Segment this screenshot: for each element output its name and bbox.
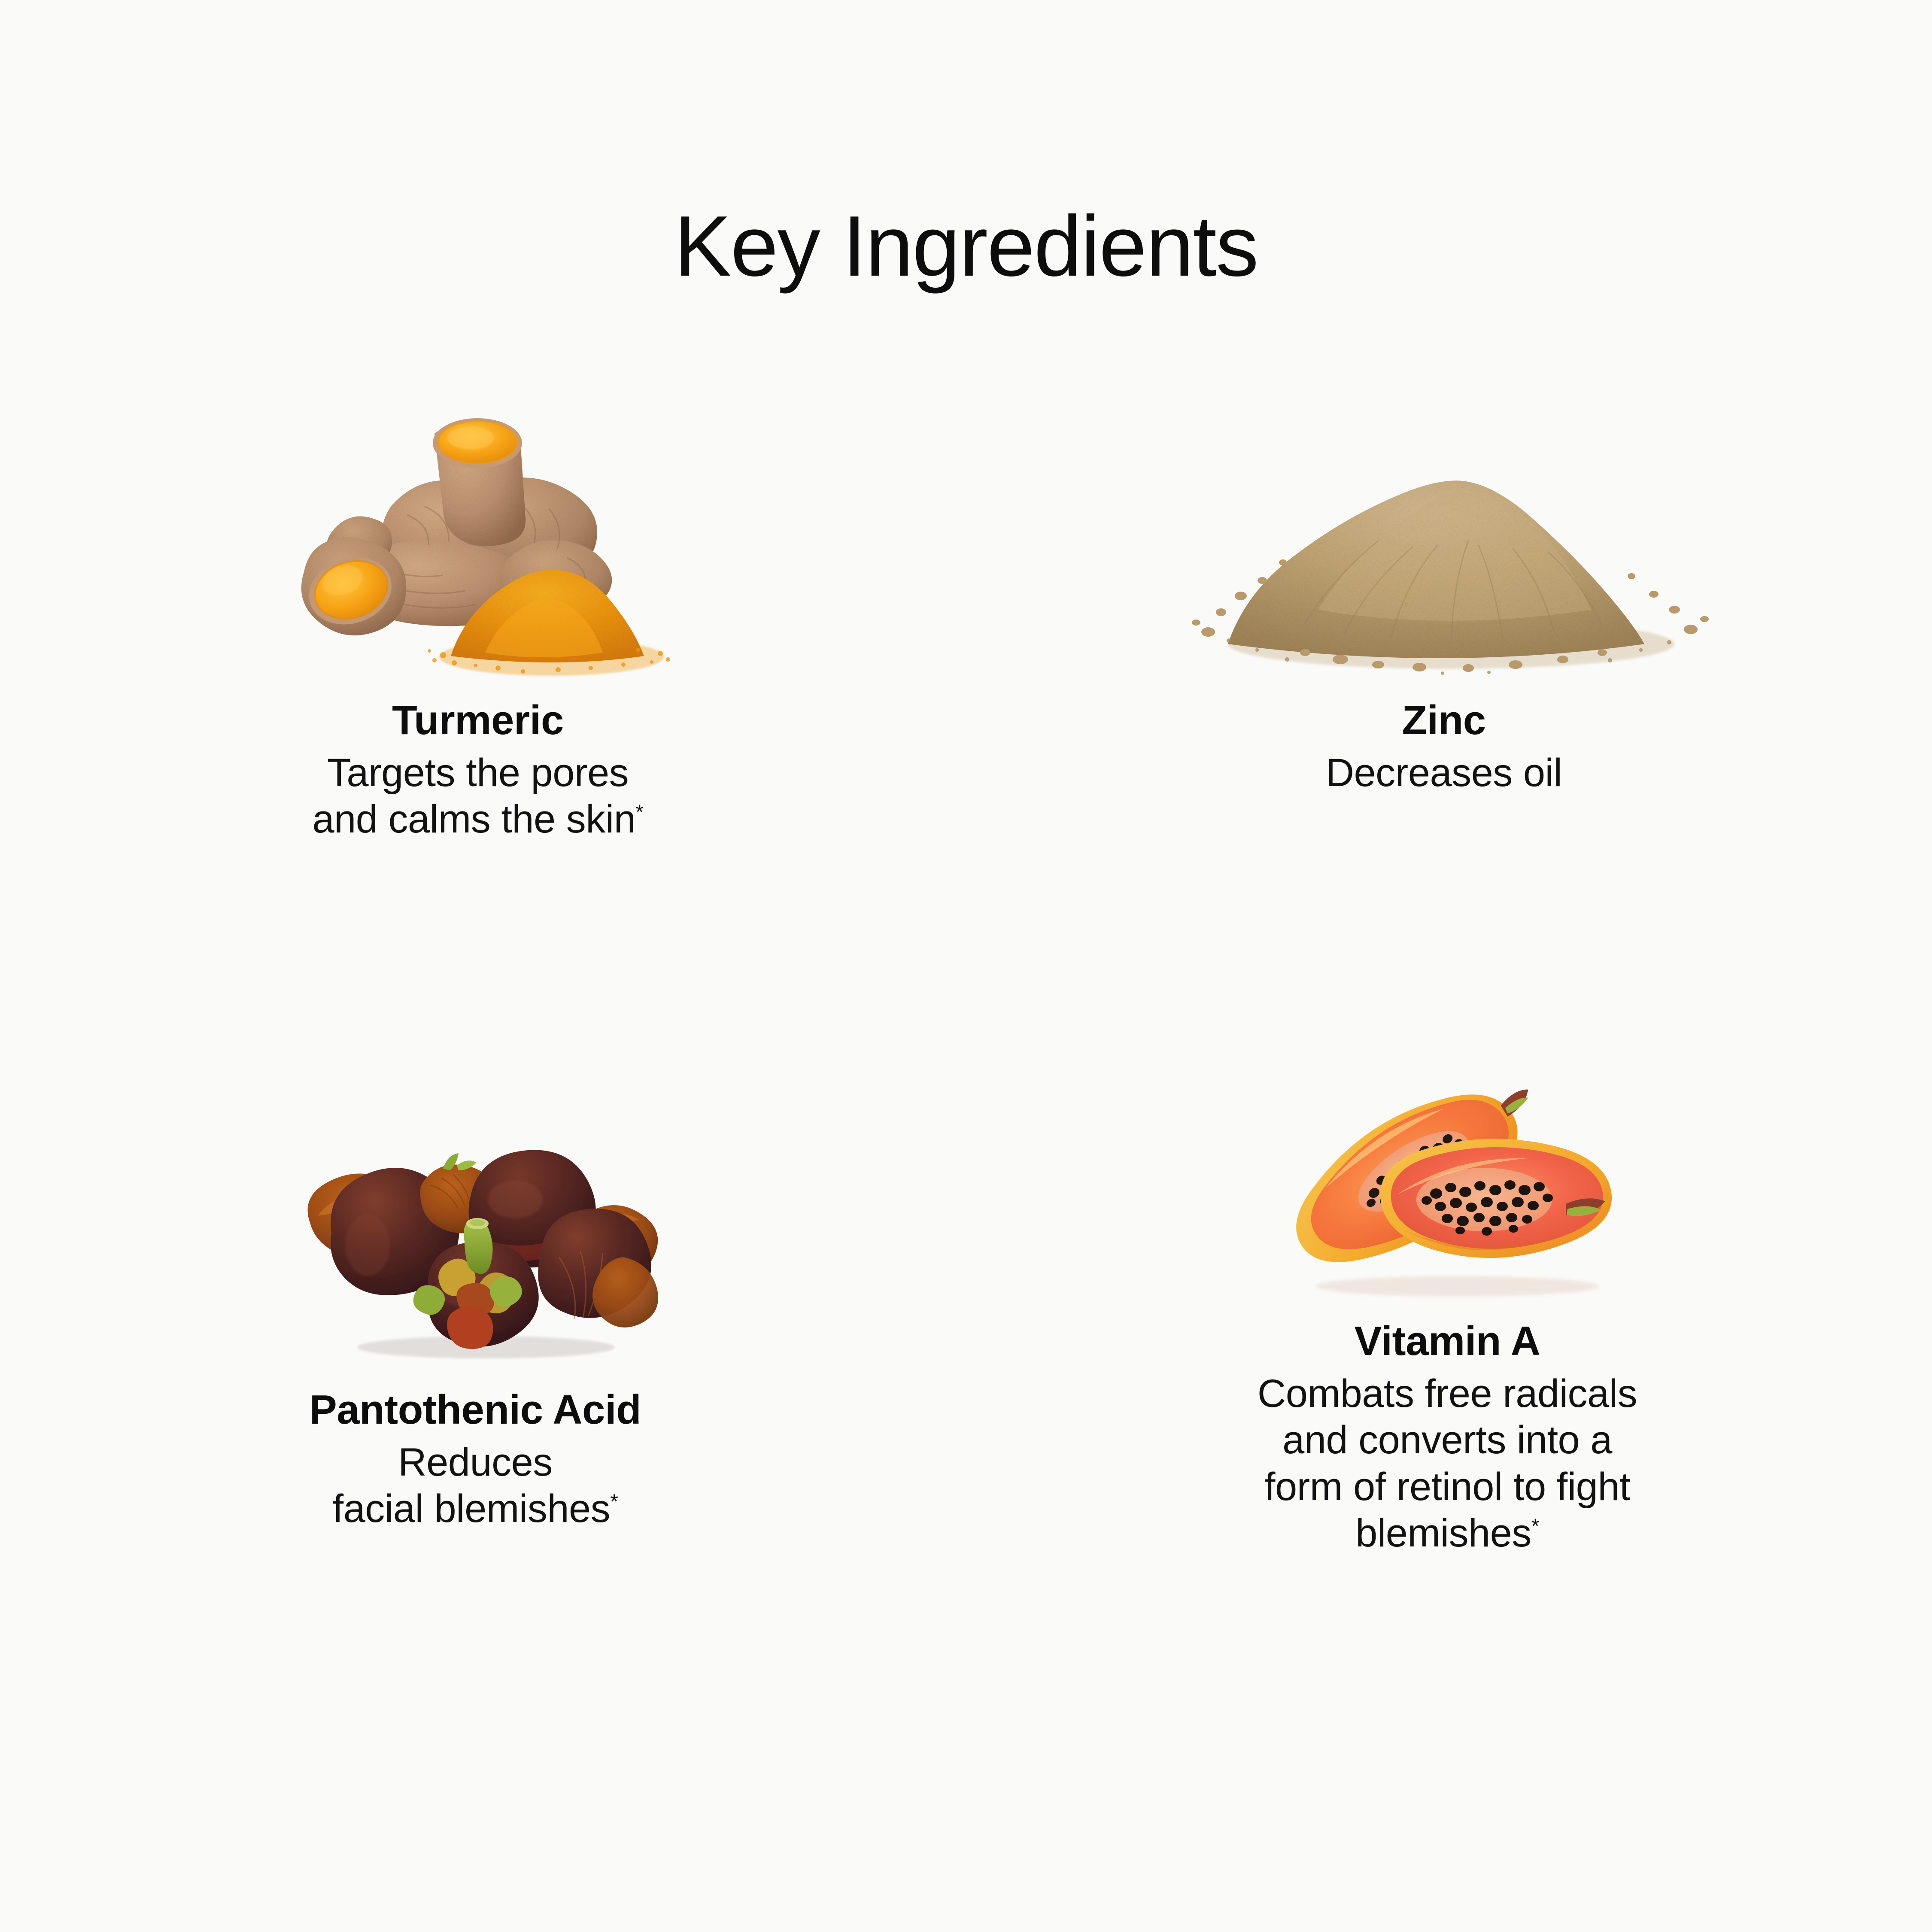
ingredient-description: Combats free radicals and converts into … bbox=[964, 1370, 1930, 1557]
vitamin-a-figure bbox=[966, 1005, 1932, 1305]
pantothenic-acid-text-block: Pantothenic Acid Reduces facial blemishe… bbox=[0, 1387, 958, 1532]
zinc-powder-image bbox=[1176, 421, 1722, 678]
ingredient-card-pantothenic-acid: Pantothenic Acid Reduces facial blemishe… bbox=[0, 1060, 966, 1532]
pantothenic-acid-figure bbox=[0, 1060, 966, 1361]
ingredient-name: Zinc bbox=[961, 697, 1927, 744]
footnote-marker: * bbox=[635, 801, 643, 823]
ingredient-description: Reduces facial blemishes* bbox=[0, 1439, 958, 1532]
ingredient-name: Pantothenic Acid bbox=[0, 1387, 958, 1433]
ingredient-card-turmeric: Turmeric Targets the pores and calms the… bbox=[0, 335, 966, 843]
ingredients-grid: Turmeric Targets the pores and calms the… bbox=[0, 335, 1932, 1923]
papaya-halves-image bbox=[1243, 1048, 1655, 1305]
mangosteen-fruit-image bbox=[292, 1121, 674, 1361]
ingredient-description: Decreases oil bbox=[961, 750, 1927, 796]
zinc-figure bbox=[966, 335, 1932, 678]
ingredient-name: Turmeric bbox=[0, 697, 961, 744]
vitamin-a-text-block: Vitamin A Combats free radicals and conv… bbox=[964, 1318, 1930, 1557]
turmeric-text-block: Turmeric Targets the pores and calms the… bbox=[0, 697, 961, 843]
ingredient-card-zinc: Zinc Decreases oil bbox=[966, 335, 1932, 796]
key-ingredients-page: Key Ingredients bbox=[0, 0, 1932, 1932]
turmeric-figure bbox=[0, 335, 966, 678]
ingredient-description-text: Combats free radicals and converts into … bbox=[1258, 1372, 1637, 1555]
page-title: Key Ingredients bbox=[0, 199, 1932, 294]
ingredient-name: Vitamin A bbox=[964, 1318, 1930, 1364]
footnote-marker: * bbox=[1531, 1515, 1539, 1538]
ingredient-description-text: Reduces facial blemishes bbox=[333, 1440, 611, 1531]
zinc-text-block: Zinc Decreases oil bbox=[961, 697, 1927, 796]
ingredient-description-text: Targets the pores and calms the skin bbox=[312, 751, 635, 841]
ingredient-card-vitamin-a: Vitamin A Combats free radicals and conv… bbox=[966, 1005, 1932, 1557]
ingredient-description: Targets the pores and calms the skin* bbox=[0, 750, 961, 843]
turmeric-root-and-powder-image bbox=[283, 378, 683, 678]
ingredient-description-text: Decreases oil bbox=[1326, 751, 1562, 795]
footnote-marker: * bbox=[610, 1490, 618, 1513]
